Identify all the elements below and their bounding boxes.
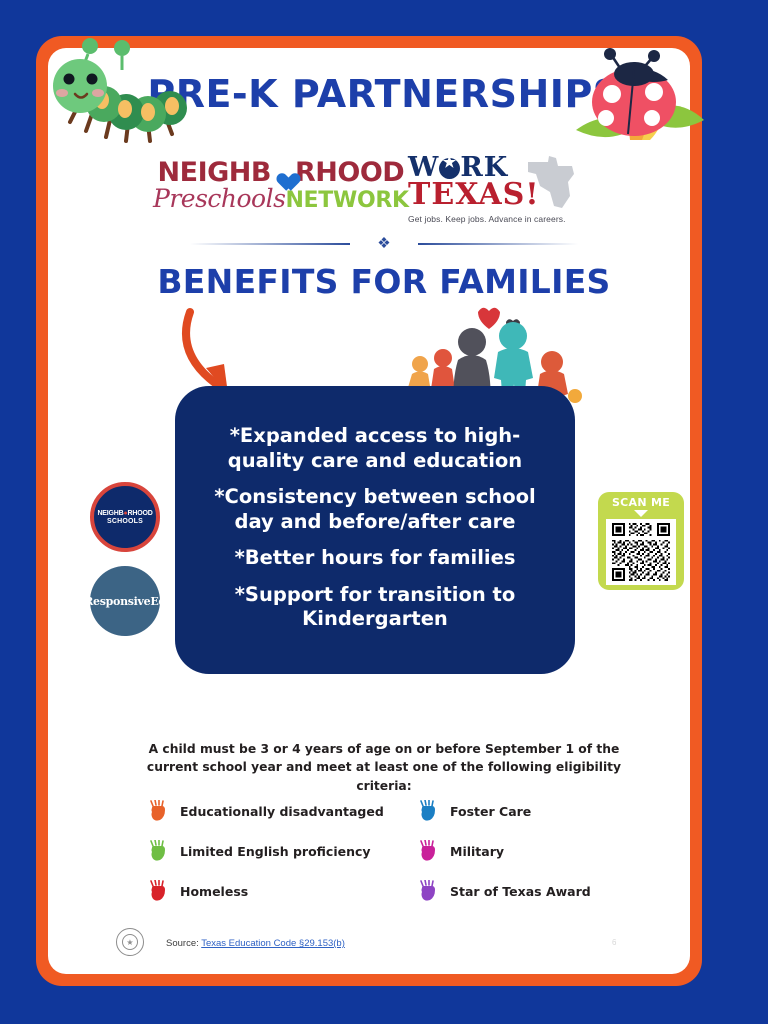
eligibility-item: Foster Care <box>418 800 628 822</box>
star-icon <box>439 158 460 179</box>
work-texas-logo: WRK TEXAS! Get jobs. Keep jobs. Advance … <box>408 152 588 230</box>
neighborhood-schools-badge: NEIGHB●RHOOD SCHOOLS <box>90 482 160 552</box>
badge-text-a: NEIGHB <box>97 510 123 517</box>
qr-code-icon[interactable] <box>606 519 676 585</box>
eligibility-item: Educationally disadvantaged <box>148 800 418 822</box>
hand-icon <box>148 880 168 902</box>
caret-down-icon <box>634 510 648 517</box>
badge-text-b: RHOOD <box>128 510 153 517</box>
eligibility-label: Military <box>450 844 504 859</box>
eligibility-label: Limited English proficiency <box>180 844 371 859</box>
network-text: NETWORK <box>285 188 408 213</box>
partner-logos: NEIGHBRHOOD PreschoolsNETWORK WRK TEXAS!… <box>48 152 690 232</box>
source-citation: Source: Texas Education Code §29.153(b) <box>166 938 345 949</box>
eligibility-item: Star of Texas Award <box>418 880 628 902</box>
qr-scan-card[interactable]: SCAN ME <box>598 492 684 590</box>
ladybug-icon <box>568 44 713 154</box>
source-label: Source: <box>166 938 199 949</box>
neighborhood-schools-line2: SCHOOLS <box>107 518 143 525</box>
eligibility-item: Military <box>418 840 628 862</box>
caterpillar-icon <box>30 34 210 154</box>
responsive-ed-label: ResponsiveEd <box>84 595 166 608</box>
responsive-ed-badge: ResponsiveEd <box>90 566 160 636</box>
neighborhood-subline: PreschoolsNETWORK <box>153 184 409 213</box>
divider-bar-left <box>190 243 350 245</box>
eligibility-item: Limited English proficiency <box>148 840 418 862</box>
benefit-item: *Support for transition to Kindergarten <box>199 583 551 632</box>
eligibility-label: Star of Texas Award <box>450 884 591 899</box>
section-title: BENEFITS FOR FAMILIES <box>0 262 768 301</box>
eligibility-label: Foster Care <box>450 804 531 819</box>
ornamental-divider-icon: ❖ <box>190 236 578 252</box>
divider-gem-icon: ❖ <box>377 236 390 252</box>
neighborhood-preschools-network-logo: NEIGHBRHOOD PreschoolsNETWORK <box>153 157 409 213</box>
source-link[interactable]: Texas Education Code §29.153(b) <box>201 938 345 949</box>
benefit-item: *Expanded access to high-quality care an… <box>199 424 551 473</box>
benefit-item: *Consistency between school day and befo… <box>199 485 551 534</box>
eligibility-intro: A child must be 3 or 4 years of age on o… <box>124 740 644 795</box>
seal-icon: ★ <box>116 928 144 956</box>
heart-icon <box>272 164 294 184</box>
hand-icon <box>418 800 438 822</box>
eligibility-label: Educationally disadvantaged <box>180 804 384 819</box>
divider-bar-right <box>418 243 578 245</box>
work-texas-tagline: Get jobs. Keep jobs. Advance in careers. <box>408 214 588 224</box>
eligibility-label: Homeless <box>180 884 248 899</box>
hand-icon <box>418 840 438 862</box>
hand-icon <box>148 800 168 822</box>
hand-icon <box>148 840 168 862</box>
poster-canvas: PRE-K PARTNERSHIPS <box>0 0 768 1024</box>
scan-me-label: SCAN ME <box>612 496 670 509</box>
eligibility-item: Homeless <box>148 880 418 902</box>
page-number: 6 <box>612 938 616 947</box>
texas-wordmark: TEXAS! <box>408 177 588 212</box>
eligibility-list: Educationally disadvantaged Foster Care … <box>148 800 628 902</box>
benefits-box: *Expanded access to high-quality care an… <box>175 386 575 674</box>
benefit-item: *Better hours for families <box>235 546 516 571</box>
preschools-script: Preschools <box>153 184 285 213</box>
seal-inner: ★ <box>122 934 138 950</box>
hand-icon <box>418 880 438 902</box>
neighborhood-schools-line1: NEIGHB●RHOOD <box>97 510 152 517</box>
